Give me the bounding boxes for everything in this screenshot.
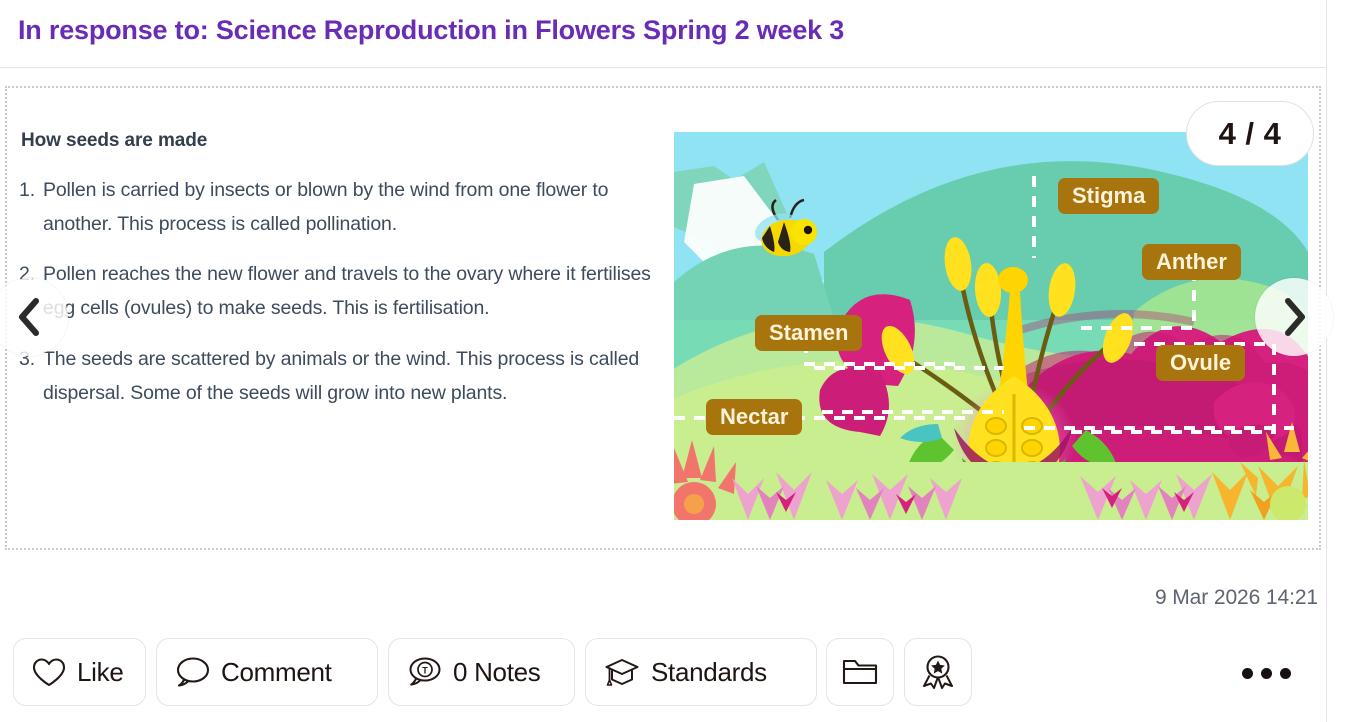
graduation-cap-icon	[604, 656, 640, 688]
like-button[interactable]: Like	[13, 638, 146, 706]
award-rosette-icon	[919, 655, 957, 689]
slide-card: How seeds are made 1. Pollen is carried …	[5, 86, 1321, 550]
slide-text-panel: How seeds are made 1. Pollen is carried …	[19, 130, 669, 427]
comment-label: Comment	[221, 657, 332, 688]
standards-label: Standards	[651, 657, 767, 688]
slide-counter-badge: 4 / 4	[1186, 101, 1314, 166]
next-slide-button[interactable]	[1255, 278, 1333, 356]
step-text: Pollen reaches the new flower and travel…	[43, 263, 651, 319]
notes-icon: T	[407, 656, 442, 688]
award-button[interactable]	[904, 638, 972, 706]
folder-icon	[841, 656, 879, 688]
heart-icon	[32, 657, 66, 688]
more-dot	[1261, 668, 1272, 679]
step-item: 2. Pollen reaches the new flower and tra…	[19, 258, 669, 325]
page-header: In response to: Science Reproduction in …	[0, 0, 1326, 68]
svg-text:T: T	[422, 665, 428, 675]
step-item: 1. Pollen is carried by insects or blown…	[19, 174, 669, 241]
more-dot	[1280, 668, 1291, 679]
diagram-label-stamen: Stamen	[755, 315, 862, 351]
step-number: 1.	[19, 174, 35, 208]
standards-button[interactable]: Standards	[585, 638, 817, 706]
step-item: 3. The seeds are scattered by animals or…	[19, 343, 669, 410]
step-text: The seeds are scattered by animals or th…	[43, 348, 639, 404]
notes-button[interactable]: T 0 Notes	[388, 638, 575, 706]
chevron-left-icon	[16, 298, 42, 336]
step-text: Pollen is carried by insects or blown by…	[43, 179, 608, 235]
like-label: Like	[77, 657, 124, 688]
diagram-label-anther: Anther	[1142, 244, 1241, 280]
post-timestamp: 9 Mar 2026 14:21	[1155, 586, 1318, 610]
post-detail-page: In response to: Science Reproduction in …	[0, 0, 1345, 722]
notes-label: 0 Notes	[453, 657, 541, 688]
comment-button[interactable]: Comment	[156, 638, 378, 706]
more-options-button[interactable]	[1234, 660, 1299, 687]
page-title: In response to: Science Reproduction in …	[18, 15, 844, 46]
diagram-label-nectar: Nectar	[706, 399, 802, 435]
diagram-label-stigma: Stigma	[1058, 178, 1159, 214]
action-bar: Like Comment T 0 Notes	[0, 638, 1326, 722]
steps-list: 1. Pollen is carried by insects or blown…	[19, 174, 669, 410]
comment-bubble-icon	[175, 656, 210, 688]
diagram-label-ovule: Ovule	[1156, 345, 1245, 381]
page-right-gutter	[1327, 0, 1345, 722]
more-dot	[1242, 668, 1253, 679]
folder-button[interactable]	[826, 638, 894, 706]
slide-heading: How seeds are made	[21, 130, 669, 152]
chevron-right-icon	[1281, 298, 1307, 336]
